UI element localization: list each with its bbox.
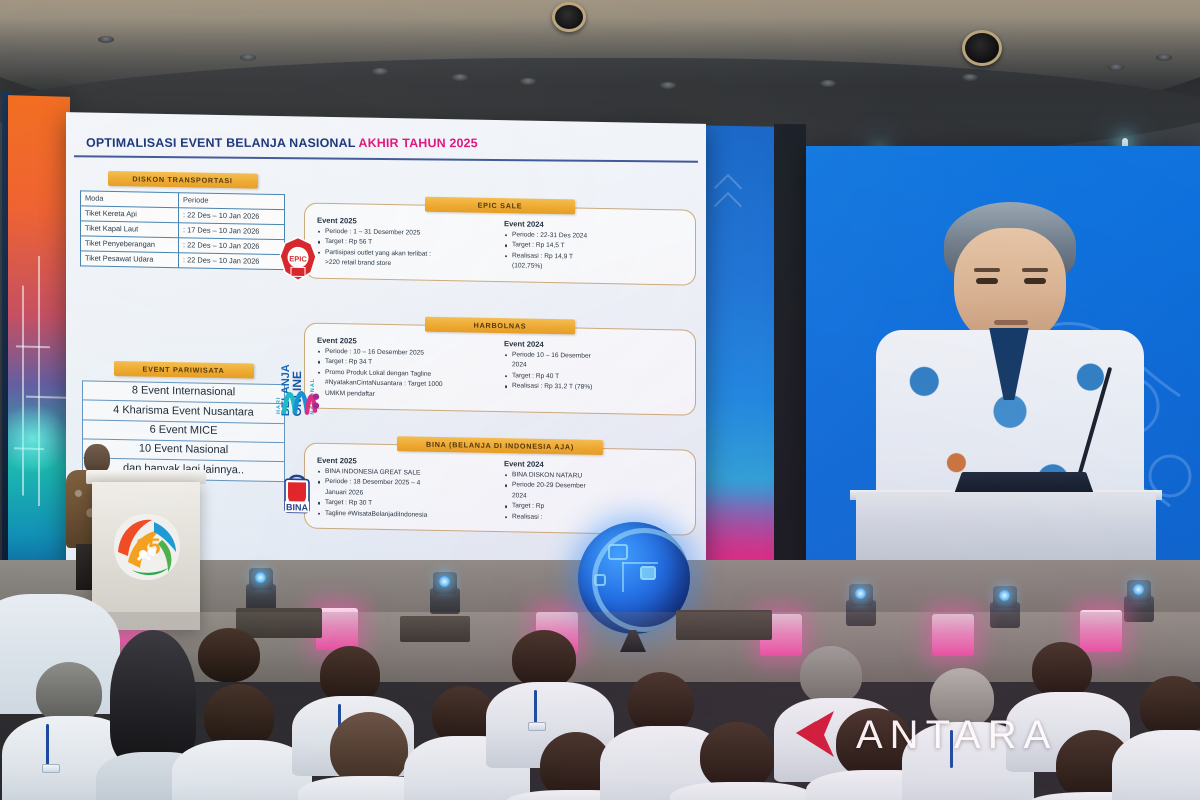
- downlight-icon: [820, 80, 836, 87]
- bina-logo-icon: BINA: [280, 471, 314, 518]
- downlight-icon: [372, 68, 388, 75]
- event-year-title: Event 2025: [317, 456, 498, 468]
- bullet-item-cont: UMKM pendaftar: [317, 389, 498, 401]
- downlight-icon: [660, 82, 676, 89]
- table-row: Tiket Pesawat Udara : 22 Des – 10 Jan 20…: [81, 251, 285, 270]
- antara-watermark: ANTARA: [786, 706, 1086, 764]
- audience-head: [36, 662, 102, 724]
- cell-periode: : 22 Des – 10 Jan 2026: [178, 253, 284, 270]
- bullet-item-cont: (102,75%): [504, 262, 685, 274]
- bina-logo-text: BINA: [286, 502, 308, 512]
- title-divider: [74, 155, 698, 162]
- event-year-title: Event 2025: [317, 216, 498, 228]
- slide-title-main: OPTIMALISASI EVENT BELANJA NASIONAL: [86, 136, 359, 150]
- ceiling-speaker-icon: [552, 2, 586, 32]
- card-col-2025: Event 2025 Periode : 10 – 16 Desember 20…: [317, 336, 498, 403]
- event-bullet-list: Periode : 1 – 31 Desember 2025 Target : …: [317, 228, 498, 271]
- downlight-icon: [98, 36, 114, 43]
- lanyard: [46, 724, 49, 766]
- downlight-icon: [520, 78, 536, 85]
- event-year-title: Event 2025: [317, 336, 498, 348]
- event-year-title: Event 2024: [504, 339, 685, 351]
- card-epic-sale: EPIC SALE Event 2025 Periode : 1 – 31 De…: [304, 202, 696, 285]
- cell-moda: Tiket Pesawat Udara: [81, 251, 179, 268]
- audience-member: [1112, 730, 1200, 800]
- card-col-2025: Event 2025 Periode : 1 – 31 Desember 202…: [317, 216, 498, 273]
- slide-title-accent: AKHIR TAHUN 2025: [358, 136, 478, 150]
- moving-head-light-icon: [246, 568, 276, 610]
- epic-logo-text: EPIC: [289, 254, 307, 263]
- audience-head: [628, 672, 694, 734]
- audience-head: [1140, 676, 1200, 738]
- audience-head: [800, 646, 862, 704]
- downlight-icon: [1108, 64, 1124, 71]
- card-col-2024: Event 2024 BINA DISKON NATARU Periode 20…: [504, 459, 685, 526]
- card-col-2024: Event 2024 Periode : 22-31 Des 2024 Targ…: [504, 219, 685, 276]
- audience-head: [700, 722, 774, 790]
- led-podium: [856, 492, 1156, 570]
- audience-head: [512, 630, 576, 688]
- card-header-epic: EPIC SALE: [425, 197, 575, 215]
- downlight-icon: [240, 54, 256, 61]
- downlight-icon: [962, 74, 978, 81]
- stage-blue-panel: [700, 125, 774, 578]
- badge-card: [42, 764, 60, 773]
- event-year-title: Event 2024: [504, 219, 685, 231]
- audience-head: [198, 628, 260, 682]
- bullet-item-cont: >220 retail brand store: [317, 259, 498, 271]
- event-bullet-list: BINA DISKON NATARU Periode 20-29 Desembe…: [504, 471, 685, 525]
- harbolnas-logo-icon: BELANJA ONLINE HARI NASIONAL: [262, 324, 318, 421]
- slide-title: OPTIMALISASI EVENT BELANJA NASIONAL AKHI…: [86, 136, 692, 151]
- bullet-item: Realisasi : Rp 31,2 T (78%): [504, 382, 685, 394]
- card-col-2024: Event 2024 Periode 10 – 16 Desember 2024…: [504, 339, 685, 406]
- led-video-screen: [806, 146, 1200, 570]
- screen-gap: [774, 124, 806, 581]
- event-bullet-list: BINA INDONESIA GREAT SALE Periode : 18 D…: [317, 468, 498, 522]
- transport-table: Moda Periode Tiket Kereta Api : 22 Des –…: [80, 190, 285, 270]
- transport-header: DISKON TRANSPORTASI: [108, 171, 258, 189]
- audience-head: [330, 712, 408, 786]
- ceiling-speaker-icon: [962, 30, 1002, 66]
- transport-block: DISKON TRANSPORTASI Moda Periode Tiket K…: [80, 170, 285, 270]
- downlight-icon: [1156, 54, 1172, 61]
- event-bullet-list: Periode : 22-31 Des 2024 Target : Rp 14,…: [504, 231, 685, 274]
- audience-member: [670, 782, 814, 800]
- anniversary-logo-85: 85: [110, 510, 184, 584]
- lanyard: [534, 690, 537, 724]
- badge-card: [528, 722, 546, 731]
- card-col-2025: Event 2025 BINA INDONESIA GREAT SALE Per…: [317, 456, 498, 523]
- moving-head-light-icon: [430, 572, 460, 614]
- audience-head: [1032, 642, 1092, 698]
- event-bullet-list: Periode : 10 – 16 Desember 2025 Target :…: [317, 348, 498, 402]
- antara-watermark-text: ANTARA: [856, 713, 1057, 758]
- event-year-title: Event 2024: [504, 459, 685, 471]
- downlight-icon: [452, 74, 468, 81]
- conference-hall-photo: OPTIMALISASI EVENT BELANJA NASIONAL AKHI…: [0, 0, 1200, 800]
- antara-logo-icon: [786, 707, 842, 763]
- event-bullet-list: Periode 10 – 16 Desember 2024 Target : R…: [504, 351, 685, 394]
- audience-head-hijab: [110, 630, 196, 764]
- stage-podium: 85: [92, 482, 200, 630]
- card-header-harbolnas: HARBOLNAS: [425, 317, 575, 335]
- audience-member: [172, 740, 312, 800]
- pariwisata-header: EVENT PARIWISATA: [114, 361, 254, 379]
- decorative-side-banner: [8, 95, 70, 595]
- bullet-item: Tagline #WisataBelanjadiIndonesia: [317, 509, 498, 521]
- bullet-item: Realisasi :: [504, 513, 685, 525]
- card-harbolnas: HARBOLNAS Event 2025 Periode : 10 – 16 D…: [304, 322, 696, 415]
- epic-sale-logo-icon: EPIC: [278, 236, 316, 281]
